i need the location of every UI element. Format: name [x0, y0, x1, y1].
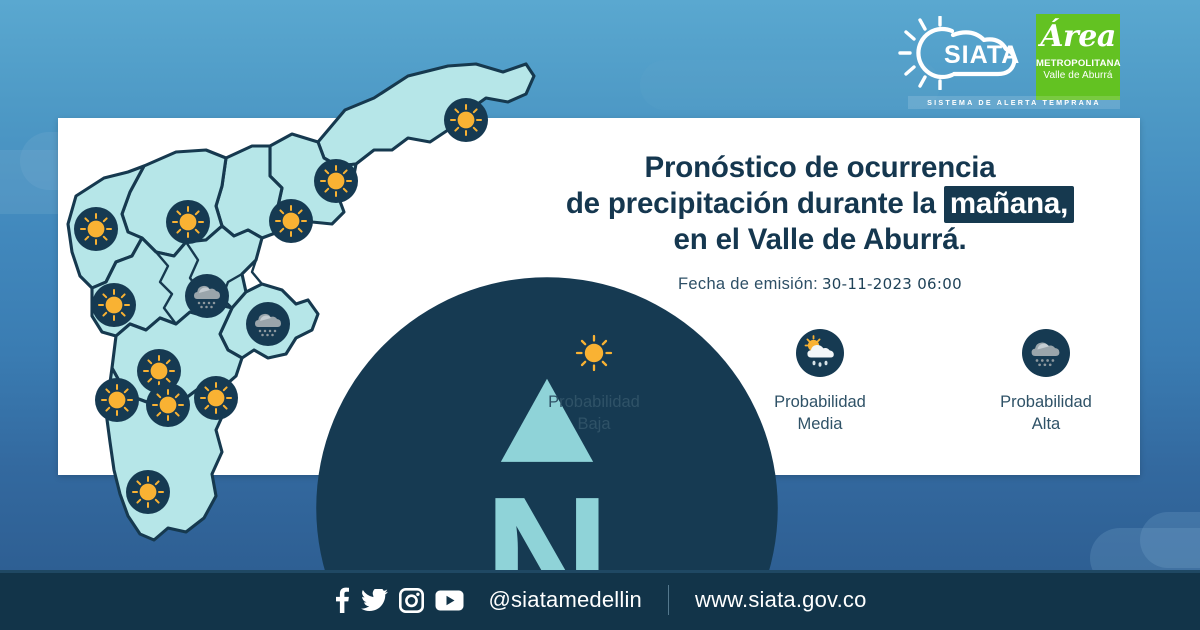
- siata-logo: SIATA: [898, 16, 1048, 90]
- weather-marker[interactable]: [184, 273, 230, 319]
- legend-label-alta: Probabilidad Alta: [972, 391, 1120, 435]
- youtube-icon[interactable]: [435, 590, 464, 611]
- rain-cloud-icon: [184, 273, 230, 319]
- legend-icon-wrap: [795, 328, 845, 378]
- sun-icon: [91, 282, 137, 328]
- weather-marker[interactable]: [313, 158, 359, 204]
- legend-label-media: Probabilidad Media: [746, 391, 894, 435]
- emission-date: Fecha de emisión:30-11-2023 06:00: [520, 275, 1120, 294]
- page-title: Pronóstico de ocurrencia de precipitació…: [520, 150, 1120, 258]
- sun-icon: [94, 377, 140, 423]
- siata-tagline-text: SISTEMA DE ALERTA TEMPRANA: [908, 96, 1120, 109]
- municipality-barbosa: [318, 64, 534, 166]
- emission-date-label: Fecha de emisión:: [678, 275, 818, 293]
- legend-label-line2: Media: [746, 413, 894, 435]
- weather-marker[interactable]: [91, 282, 137, 328]
- legend-label-line1: Probabilidad: [746, 391, 894, 413]
- sun-icon: [193, 375, 239, 421]
- weather-marker[interactable]: [443, 97, 489, 143]
- sun-icon: [443, 97, 489, 143]
- weather-marker[interactable]: [268, 198, 314, 244]
- weather-marker[interactable]: [145, 382, 191, 428]
- sun-icon: [165, 199, 211, 245]
- legend-item-alta: Probabilidad Alta: [972, 328, 1120, 435]
- rain-cloud-icon: [245, 301, 291, 347]
- sun-icon: [145, 382, 191, 428]
- rain-cloud-icon: [1021, 328, 1071, 378]
- svg-text:SIATA: SIATA: [944, 41, 1020, 69]
- legend-item-baja: Probabilidad Baja: [520, 328, 668, 435]
- weather-marker[interactable]: [73, 206, 119, 252]
- social-links: [333, 587, 464, 613]
- facebook-icon[interactable]: [333, 587, 350, 613]
- sun-icon: [268, 198, 314, 244]
- area-logo-line2: Valle de Aburrá: [1036, 70, 1120, 81]
- footer-bar: @siatamedellin www.siata.gov.co: [0, 570, 1200, 630]
- headline-line-2-prefix: de precipitación durante la: [566, 187, 944, 220]
- website-url[interactable]: www.siata.gov.co: [695, 587, 867, 613]
- weather-marker[interactable]: [165, 199, 211, 245]
- legend-label-line1: Probabilidad: [972, 391, 1120, 413]
- legend-icon-wrap: [1021, 328, 1071, 378]
- legend-item-media: Probabilidad Media: [746, 328, 894, 435]
- forecast-text-panel: Pronóstico de ocurrencia de precipitació…: [520, 150, 1120, 435]
- decorative-cloud: [640, 60, 940, 110]
- headline-line-1: Pronóstico de ocurrencia: [520, 150, 1120, 186]
- sun-rain-cloud-icon: [795, 328, 845, 378]
- weather-marker[interactable]: [125, 469, 171, 515]
- compass-rose: N: [307, 248, 359, 300]
- headline-line-3: en el Valle de Aburrá.: [520, 222, 1120, 258]
- sun-icon: [125, 469, 171, 515]
- sun-icon: [73, 206, 119, 252]
- headline-line-2: de precipitación durante la mañana,: [520, 186, 1120, 222]
- instagram-icon[interactable]: [399, 588, 424, 613]
- twitter-icon[interactable]: [361, 589, 388, 612]
- decorative-cloud: [1140, 512, 1200, 568]
- probability-legend: Probabilidad Baja: [520, 328, 1120, 435]
- social-handle[interactable]: @siatamedellin: [488, 587, 642, 613]
- area-metropolitana-logo: Área METROPOLITANA Valle de Aburrá: [1036, 14, 1120, 100]
- legend-icon-wrap: [569, 328, 619, 378]
- weather-marker[interactable]: [193, 375, 239, 421]
- legend-label-line1: Probabilidad: [520, 391, 668, 413]
- footer-divider: [668, 585, 669, 615]
- sun-cloud-logo-icon: SIATA: [898, 16, 1048, 90]
- sun-icon: [569, 328, 619, 378]
- siata-tagline-bar: SISTEMA DE ALERTA TEMPRANA: [908, 96, 1120, 109]
- area-logo-line1: METROPOLITANA: [1036, 58, 1120, 69]
- weather-marker[interactable]: [245, 301, 291, 347]
- valle-de-aburra-map: N: [56, 46, 536, 566]
- legend-label-line2: Baja: [520, 413, 668, 435]
- infographic-canvas: SIATA Área METROPOLITANA Valle de Aburrá…: [0, 0, 1200, 630]
- weather-marker[interactable]: [94, 377, 140, 423]
- sun-icon: [313, 158, 359, 204]
- legend-label-line2: Alta: [972, 413, 1120, 435]
- emission-date-value: 30-11-2023 06:00: [822, 275, 962, 293]
- legend-label-baja: Probabilidad Baja: [520, 391, 668, 435]
- area-logo-script: Área: [1036, 22, 1120, 52]
- headline-highlight: mañana,: [944, 186, 1074, 223]
